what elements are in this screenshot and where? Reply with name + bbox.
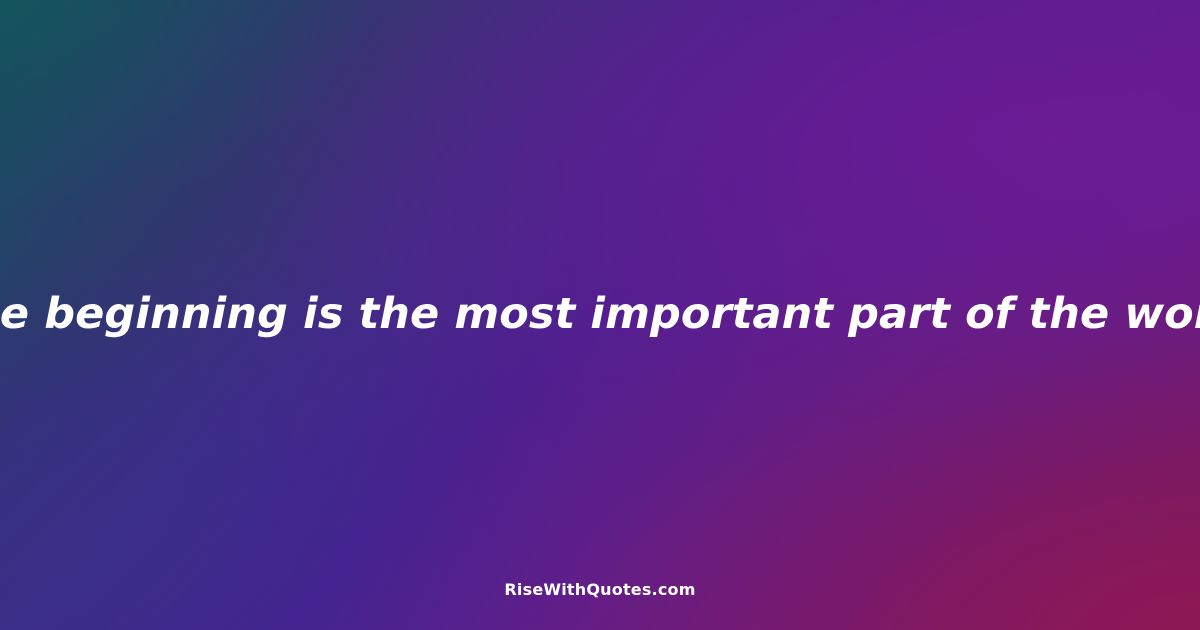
site-credit: RiseWithQuotes.com xyxy=(0,582,1200,598)
quote-text: “The beginning is the most important par… xyxy=(0,0,1200,630)
quote-card: “The beginning is the most important par… xyxy=(0,0,1200,630)
card-content: “The beginning is the most important par… xyxy=(0,0,1200,630)
